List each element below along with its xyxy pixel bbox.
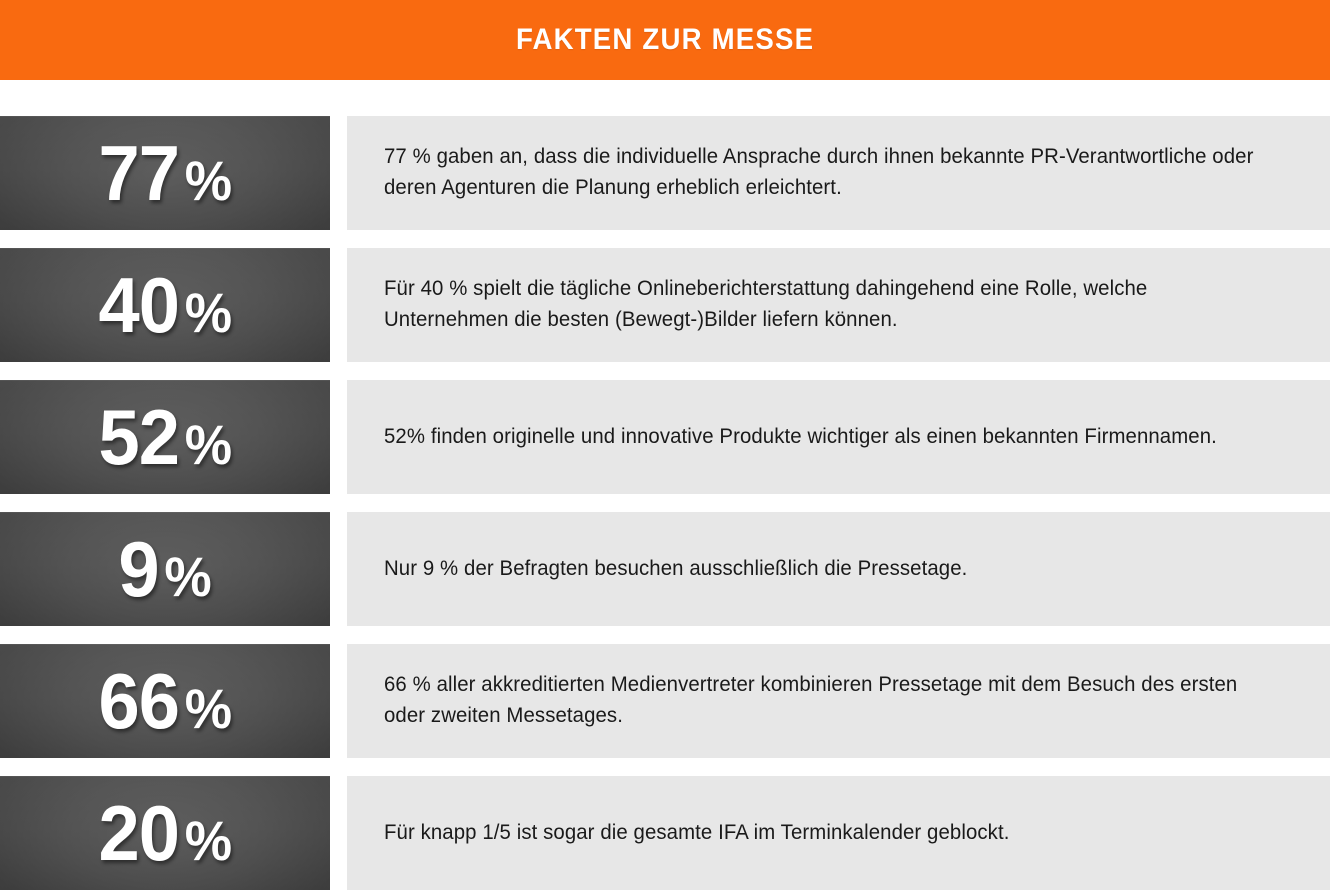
fact-row: 40%Für 40 % spielt die tägliche Onlinebe… [0, 248, 1330, 362]
fact-description-text: Für knapp 1/5 ist sogar die gesamte IFA … [384, 818, 1009, 849]
fact-value-tile: 20% [0, 776, 330, 890]
fact-description-text: Für 40 % spielt die tägliche Onlineberic… [384, 274, 1269, 336]
percent-sign-icon: % [165, 549, 211, 605]
fact-value-tile: 9% [0, 512, 330, 626]
fact-percentage: 40% [99, 266, 232, 344]
fact-description-panel: Nur 9 % der Befragten besuchen ausschlie… [347, 512, 1330, 626]
fact-description-panel: 66 % aller akkreditierten Medienvertrete… [347, 644, 1330, 758]
fact-row: 77%77 % gaben an, dass die individuelle … [0, 116, 1330, 230]
fact-row: 52%52% finden originelle und innovative … [0, 380, 1330, 494]
fact-description-text: Nur 9 % der Befragten besuchen ausschlie… [384, 554, 967, 585]
fact-row: 9%Nur 9 % der Befragten besuchen ausschl… [0, 512, 1330, 626]
fact-description-panel: Für 40 % spielt die tägliche Onlineberic… [347, 248, 1330, 362]
fact-percentage: 9% [119, 530, 211, 608]
fact-percentage-number: 20 [99, 794, 180, 872]
infographic-page: FAKTEN ZUR MESSE 77%77 % gaben an, dass … [0, 0, 1330, 890]
fact-description-panel: 77 % gaben an, dass die individuelle Ans… [347, 116, 1330, 230]
fact-percentage: 20% [99, 794, 232, 872]
percent-sign-icon: % [185, 417, 231, 473]
fact-percentage-number: 52 [99, 398, 180, 476]
fact-row: 66%66 % aller akkreditierten Medienvertr… [0, 644, 1330, 758]
fact-percentage-number: 9 [119, 530, 159, 608]
fact-description-text: 77 % gaben an, dass die individuelle Ans… [384, 142, 1269, 204]
fact-percentage: 77% [99, 134, 232, 212]
percent-sign-icon: % [185, 681, 231, 737]
fact-percentage-number: 77 [99, 134, 180, 212]
percent-sign-icon: % [185, 813, 231, 869]
fact-value-tile: 66% [0, 644, 330, 758]
fact-description-text: 52% finden originelle und innovative Pro… [384, 422, 1217, 453]
facts-list: 77%77 % gaben an, dass die individuelle … [0, 116, 1330, 890]
fact-value-tile: 77% [0, 116, 330, 230]
fact-value-tile: 52% [0, 380, 330, 494]
fact-description-text: 66 % aller akkreditierten Medienvertrete… [384, 670, 1269, 732]
fact-percentage: 52% [99, 398, 232, 476]
fact-value-tile: 40% [0, 248, 330, 362]
fact-description-panel: Für knapp 1/5 ist sogar die gesamte IFA … [347, 776, 1330, 890]
fact-percentage: 66% [99, 662, 232, 740]
page-header: FAKTEN ZUR MESSE [0, 0, 1330, 80]
percent-sign-icon: % [185, 285, 231, 341]
fact-percentage-number: 66 [99, 662, 180, 740]
fact-row: 20%Für knapp 1/5 ist sogar die gesamte I… [0, 776, 1330, 890]
page-title: FAKTEN ZUR MESSE [516, 23, 814, 57]
fact-description-panel: 52% finden originelle und innovative Pro… [347, 380, 1330, 494]
percent-sign-icon: % [185, 153, 231, 209]
fact-percentage-number: 40 [99, 266, 180, 344]
